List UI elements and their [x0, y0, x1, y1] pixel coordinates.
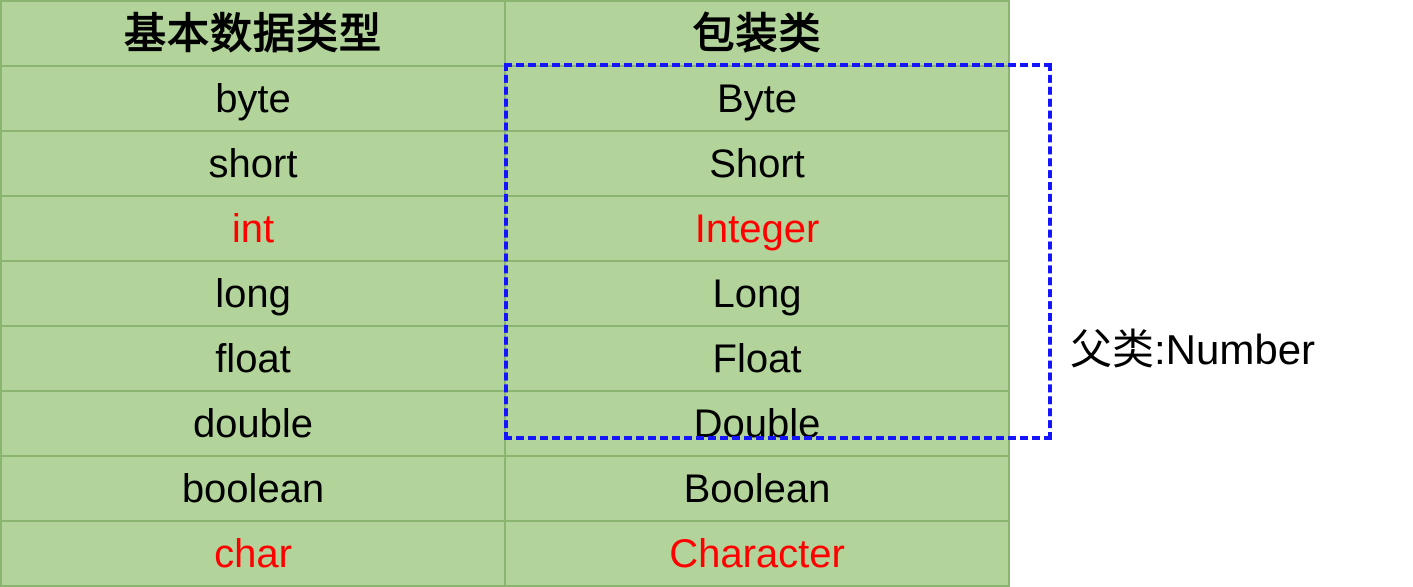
table-row: intInteger [1, 196, 1009, 261]
table-row: doubleDouble [1, 391, 1009, 456]
cell-primitive-type: float [1, 326, 505, 391]
table-row: longLong [1, 261, 1009, 326]
superclass-annotation-label: 父类:Number [1070, 329, 1315, 371]
table-body: byteByteshortShortintIntegerlongLongfloa… [1, 66, 1009, 586]
table-header-row: 基本数据类型 包装类 [1, 1, 1009, 66]
table-row: shortShort [1, 131, 1009, 196]
cell-primitive-type: double [1, 391, 505, 456]
cell-primitive-type: short [1, 131, 505, 196]
cell-wrapper-class: Short [505, 131, 1009, 196]
table-row: byteByte [1, 66, 1009, 131]
cell-wrapper-class: Long [505, 261, 1009, 326]
cell-primitive-type: long [1, 261, 505, 326]
table-row: charCharacter [1, 521, 1009, 586]
primitive-wrapper-table: 基本数据类型 包装类 byteByteshortShortintIntegerl… [0, 0, 1010, 587]
cell-wrapper-class: Integer [505, 196, 1009, 261]
cell-wrapper-class: Float [505, 326, 1009, 391]
cell-wrapper-class: Boolean [505, 456, 1009, 521]
table-row: floatFloat [1, 326, 1009, 391]
column-header-wrapper: 包装类 [505, 1, 1009, 66]
cell-primitive-type: int [1, 196, 505, 261]
cell-wrapper-class: Double [505, 391, 1009, 456]
cell-primitive-type: char [1, 521, 505, 586]
table-row: booleanBoolean [1, 456, 1009, 521]
cell-primitive-type: boolean [1, 456, 505, 521]
table-header: 基本数据类型 包装类 [1, 1, 1009, 66]
column-header-primitive: 基本数据类型 [1, 1, 505, 66]
cell-wrapper-class: Byte [505, 66, 1009, 131]
cell-primitive-type: byte [1, 66, 505, 131]
cell-wrapper-class: Character [505, 521, 1009, 586]
